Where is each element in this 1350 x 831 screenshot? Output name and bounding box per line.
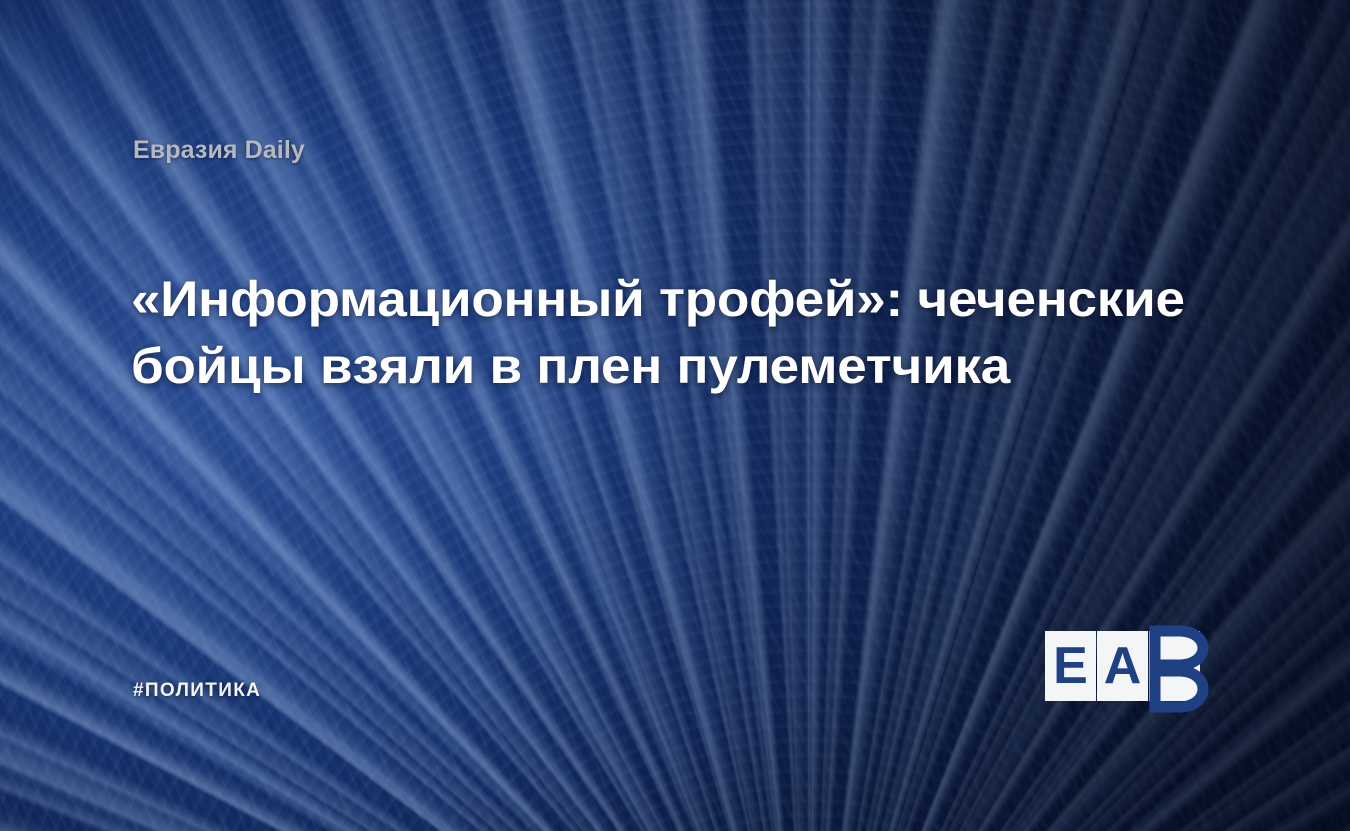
news-card: Евразия Daily «Информационный трофей»: ч… <box>0 0 1350 831</box>
logo-letter-a: A <box>1097 631 1148 701</box>
category-hashtag: #ПОЛИТИКА <box>133 681 261 700</box>
brand-name: Евразия Daily <box>133 138 305 163</box>
logo-letter-e: E <box>1045 631 1096 701</box>
eadaily-logo: E A <box>1045 631 1220 701</box>
logo-letter-d <box>1145 615 1221 717</box>
headline: «Информационный трофей»: чеченские бойцы… <box>131 266 1297 400</box>
card-content: Евразия Daily «Информационный трофей»: ч… <box>0 0 1350 831</box>
